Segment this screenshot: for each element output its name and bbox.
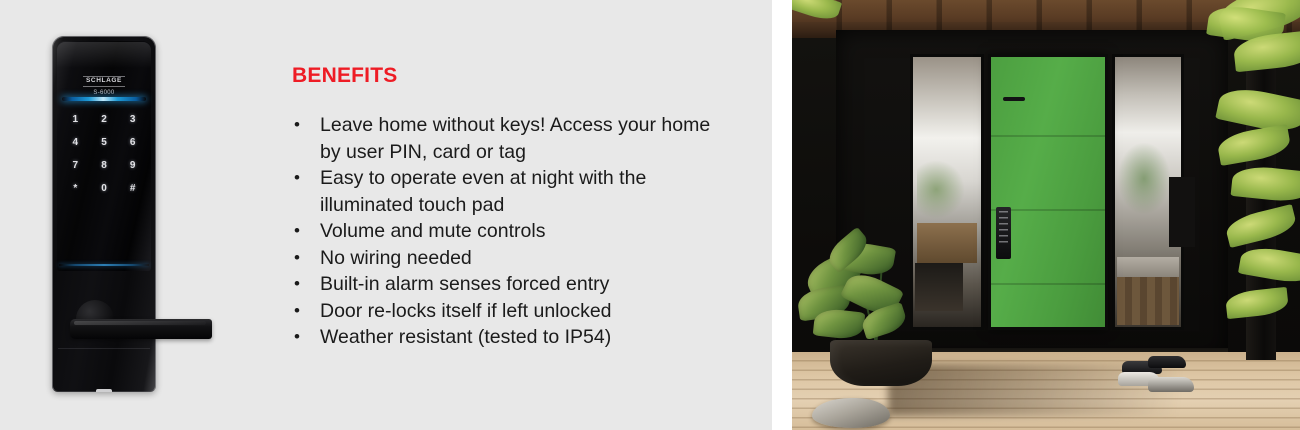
interior-furniture — [915, 263, 963, 311]
keypad-key-6: 6 — [118, 137, 147, 149]
interior-floor — [1117, 277, 1179, 325]
installed-lock-lever — [1003, 97, 1025, 101]
benefit-item: Volume and mute controls — [292, 218, 722, 245]
shoe — [1148, 356, 1186, 368]
benefit-item: Door re-locks itself if left unlocked — [292, 298, 722, 325]
brand-name-label: SCHLAGE — [83, 76, 125, 87]
interior-shelf — [917, 223, 977, 263]
product-image-smart-lock: SCHLAGE S-6000 1 2 3 4 5 6 7 8 9 * 0 # — [48, 36, 208, 396]
content-panel: SCHLAGE S-6000 1 2 3 4 5 6 7 8 9 * 0 # — [0, 0, 772, 430]
benefit-item: Weather resistant (tested to IP54) — [292, 324, 722, 351]
keypad-key-1: 1 — [61, 114, 90, 126]
benefits-list: Leave home without keys! Access your hom… — [292, 112, 722, 351]
keypad-key-hash: # — [118, 183, 147, 195]
lock-brand-plate: SCHLAGE S-6000 — [52, 69, 156, 97]
door-panel-seam — [991, 283, 1105, 285]
sidelight-left — [910, 54, 984, 330]
benefit-item: No wiring needed — [292, 245, 722, 272]
keypad-key-7: 7 — [61, 160, 90, 172]
keypad-key-9: 9 — [118, 160, 147, 172]
benefit-item: Leave home without keys! Access your hom… — [292, 112, 722, 165]
lock-keypad: 1 2 3 4 5 6 7 8 9 * 0 # — [61, 114, 147, 195]
keypad-key-5: 5 — [90, 137, 119, 149]
green-front-door — [988, 54, 1108, 330]
bottom-notch — [96, 389, 112, 392]
keypad-key-4: 4 — [61, 137, 90, 149]
benefit-item: Easy to operate even at night with the i… — [292, 165, 722, 218]
keypad-key-2: 2 — [90, 114, 119, 126]
keypad-key-0: 0 — [90, 183, 119, 195]
benefits-block: BENEFITS Leave home without keys! Access… — [292, 64, 722, 351]
installed-lock-keypad — [999, 211, 1008, 243]
keypad-key-3: 3 — [118, 114, 147, 126]
plant-pot — [830, 340, 932, 386]
shoe — [1148, 377, 1194, 392]
product-benefits-slide: SCHLAGE S-6000 1 2 3 4 5 6 7 8 9 * 0 # — [0, 0, 1300, 430]
benefits-heading: BENEFITS — [292, 64, 722, 88]
lower-led-line — [59, 264, 149, 266]
led-indicator-strip — [62, 97, 146, 101]
lock-glare — [57, 42, 151, 68]
installed-smart-lock — [996, 207, 1011, 259]
decorative-stone — [812, 398, 890, 428]
interior-appliance — [1169, 177, 1195, 247]
sidelight-right — [1112, 54, 1184, 330]
door-panel-seam — [991, 135, 1105, 137]
lever-handle — [70, 319, 212, 339]
keypad-key-star: * — [61, 183, 90, 195]
keypad-key-8: 8 — [90, 160, 119, 172]
benefit-item: Built-in alarm senses forced entry — [292, 271, 722, 298]
brand-model-label: S-6000 — [52, 89, 156, 97]
body-seam — [58, 348, 150, 349]
entry-photo — [792, 0, 1300, 430]
